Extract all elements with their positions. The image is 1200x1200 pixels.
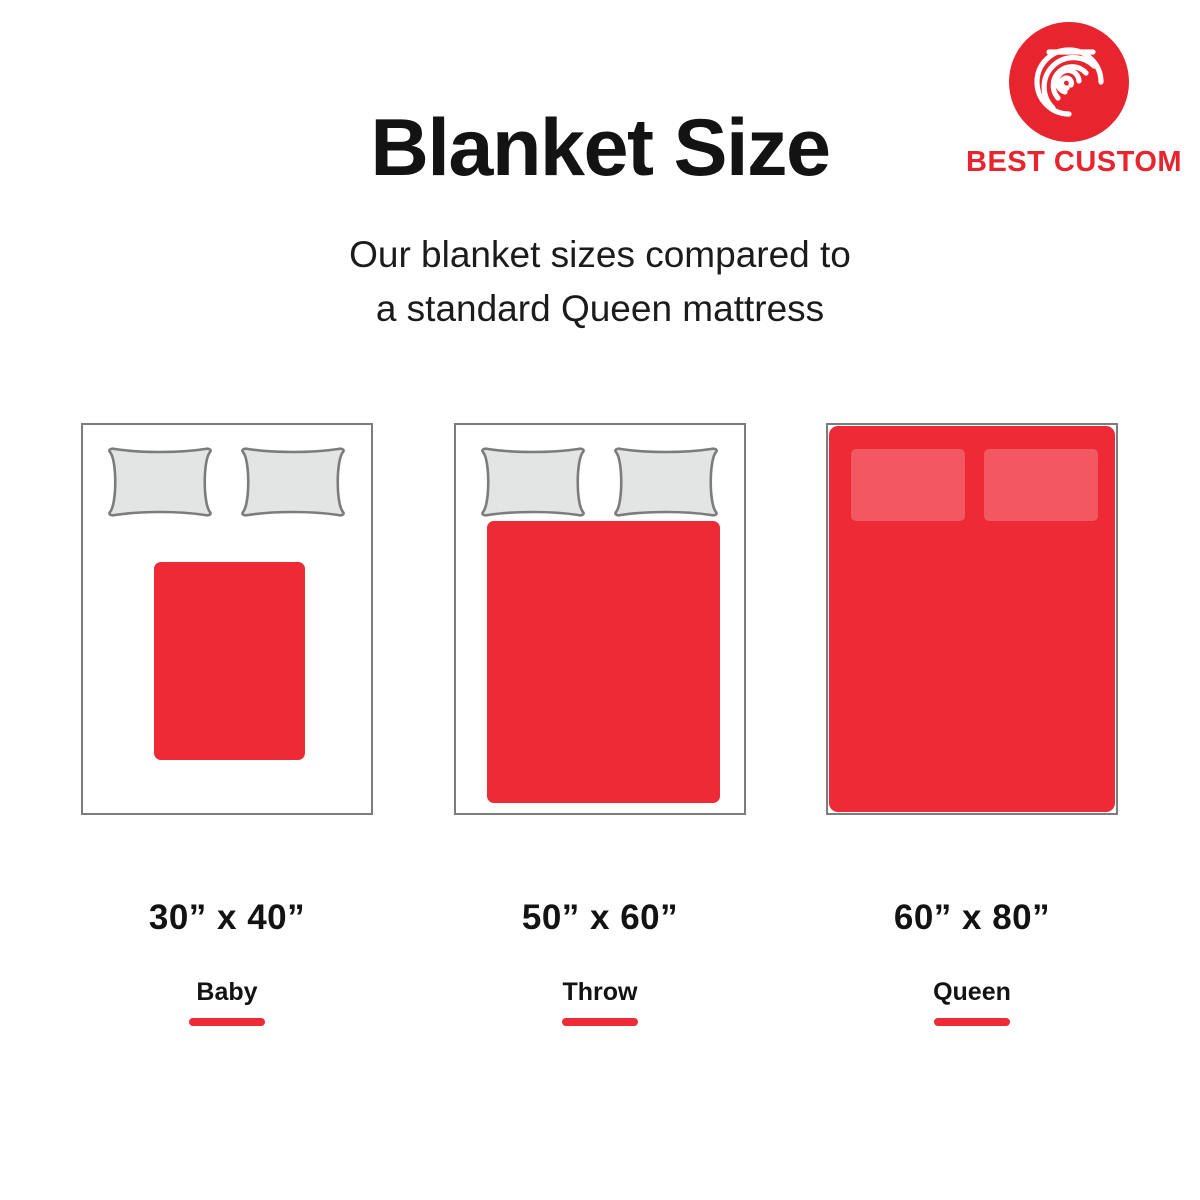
- caption-dimensions-throw: 50” x 60”: [454, 900, 746, 935]
- page-subtitle: Our blanket sizes compared to a standard…: [0, 228, 1200, 335]
- pillow-icon-right-baby: [236, 446, 350, 518]
- caption-label-queen: Queen: [826, 980, 1118, 1005]
- caption-queen: 60” x 80” Queen: [826, 900, 1118, 1026]
- subtitle-line-2: a standard Queen mattress: [0, 282, 1200, 336]
- caption-label-throw: Throw: [454, 980, 746, 1005]
- pillow-icon-left-queen: [851, 449, 965, 521]
- pillow-icon-left-baby: [103, 446, 217, 518]
- caption-dimensions-queen: 60” x 80”: [826, 900, 1118, 935]
- bed-diagram-baby: [81, 423, 373, 815]
- blanket-swatch-queen: [829, 426, 1115, 812]
- pillow-icon-left-throw: [476, 446, 590, 518]
- blanket-swatch-baby: [154, 562, 305, 760]
- page-title: Blanket Size: [0, 106, 1200, 191]
- caption-underline-throw: [562, 1018, 638, 1026]
- pillow-icon-right-throw: [609, 446, 723, 518]
- caption-group: 30” x 40” Baby 50” x 60” Throw 60” x 80”…: [0, 900, 1200, 1050]
- subtitle-line-1: Our blanket sizes compared to: [0, 228, 1200, 282]
- caption-dimensions-baby: 30” x 40”: [81, 900, 373, 935]
- bed-diagram-throw: [454, 423, 746, 815]
- bed-diagram-queen: [826, 423, 1118, 815]
- caption-throw: 50” x 60” Throw: [454, 900, 746, 1026]
- infographic-canvas: BEST CUSTOM Blanket Size Our blanket siz…: [0, 0, 1200, 1200]
- pillow-icon-right-queen: [984, 449, 1098, 521]
- caption-underline-queen: [934, 1018, 1010, 1026]
- blanket-swatch-throw: [487, 521, 720, 803]
- bed-diagram-group: [0, 423, 1200, 823]
- caption-baby: 30” x 40” Baby: [81, 900, 373, 1026]
- caption-label-baby: Baby: [81, 980, 373, 1005]
- caption-underline-baby: [189, 1018, 265, 1026]
